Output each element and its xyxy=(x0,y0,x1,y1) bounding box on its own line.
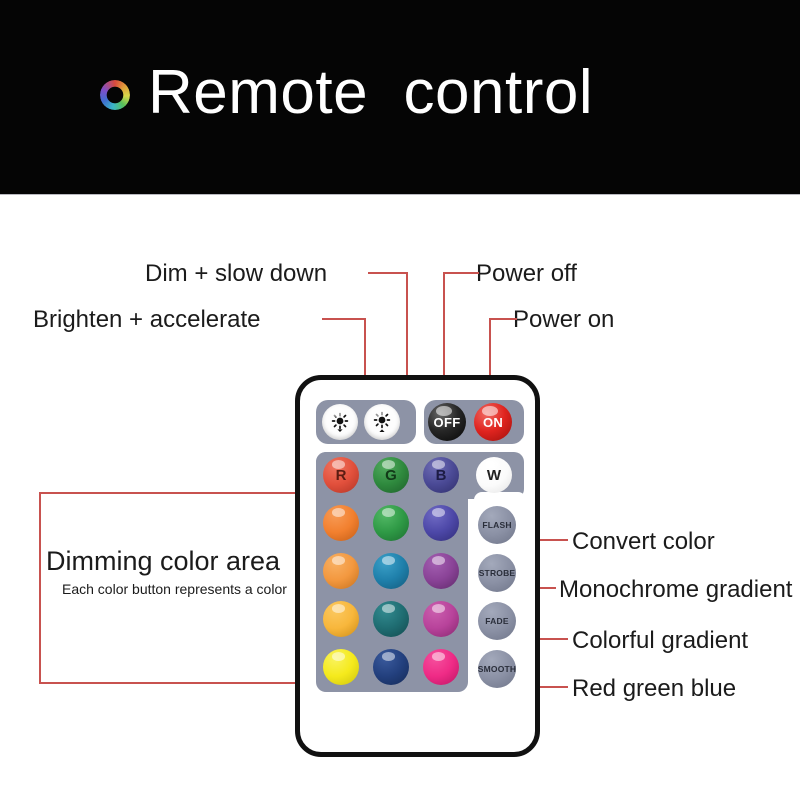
color-button-blue-2[interactable] xyxy=(423,505,459,541)
color-button-navy[interactable] xyxy=(373,649,409,685)
header-content: Remote control xyxy=(100,62,593,124)
color-button-blue[interactable]: B xyxy=(423,457,459,493)
fade-button[interactable]: FADE xyxy=(478,602,516,640)
color-button-purple-1[interactable] xyxy=(423,553,459,589)
annotation-label-brighten-accelerate: Brighten + accelerate xyxy=(33,308,260,332)
strobe-button[interactable]: STROBE xyxy=(478,554,516,592)
power-on-button[interactable]: ON xyxy=(474,403,512,441)
annotation-label-dimming-color-area: Dimming color area xyxy=(46,548,280,575)
page-title: Remote control xyxy=(148,62,593,124)
sun-up-icon xyxy=(371,411,393,433)
color-button-orange-2[interactable] xyxy=(323,553,359,589)
remote-control-device: OFF ON R G B W FLASH STROBE FADE SMOOTH xyxy=(295,375,540,757)
leader-line-brighten-h xyxy=(322,318,366,320)
brightness-down-button[interactable] xyxy=(322,404,358,440)
annotation-label-power-on: Power on xyxy=(513,308,614,332)
color-button-yellow[interactable] xyxy=(323,649,359,685)
annotation-label-dim-slow-down: Dim + slow down xyxy=(145,262,327,286)
annotation-label-red-green-blue: Red green blue xyxy=(572,677,736,701)
color-button-green-2[interactable] xyxy=(373,505,409,541)
sun-down-icon xyxy=(329,411,351,433)
color-button-orange-1[interactable] xyxy=(323,505,359,541)
color-button-amber[interactable] xyxy=(323,601,359,637)
color-button-pink[interactable] xyxy=(423,649,459,685)
smooth-button[interactable]: SMOOTH xyxy=(478,650,516,688)
color-button-cyan-blue[interactable] xyxy=(373,553,409,589)
color-button-red[interactable]: R xyxy=(323,457,359,493)
leader-line-dim-h xyxy=(368,272,408,274)
annotation-label-convert-color: Convert color xyxy=(572,530,715,554)
remote-control-infographic: Remote control Dim + slow down Brighten … xyxy=(0,0,800,800)
color-button-magenta-1[interactable] xyxy=(423,601,459,637)
leader-line-poweroff-h xyxy=(443,272,479,274)
color-wheel-icon xyxy=(100,80,130,110)
color-button-teal[interactable] xyxy=(373,601,409,637)
flash-button[interactable]: FLASH xyxy=(478,506,516,544)
annotation-label-power-off: Power off xyxy=(476,262,577,286)
color-button-green[interactable]: G xyxy=(373,457,409,493)
annotation-label-monochrome-gradient: Monochrome gradient xyxy=(559,578,792,602)
color-button-white[interactable]: W xyxy=(476,457,512,493)
header-banner: Remote control xyxy=(0,0,800,195)
leader-line-poweron-h xyxy=(489,318,517,320)
annotation-label-colorful-gradient: Colorful gradient xyxy=(572,629,748,653)
brightness-up-button[interactable] xyxy=(364,404,400,440)
power-off-button[interactable]: OFF xyxy=(428,403,466,441)
annotation-sublabel-dimming-color-area: Each color button represents a color xyxy=(62,582,287,596)
